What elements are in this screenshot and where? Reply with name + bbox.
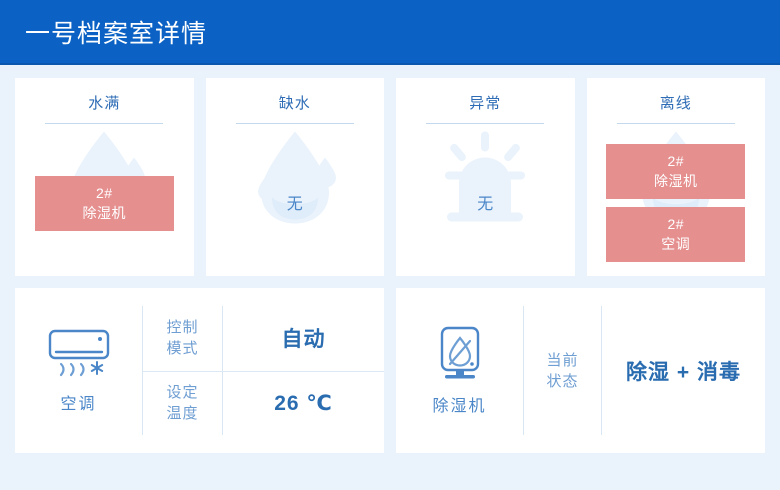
badge-device-name: 空调 xyxy=(606,234,745,254)
status-card-title: 水满 xyxy=(15,78,194,113)
status-badge[interactable]: 2# 除湿机 xyxy=(606,144,745,199)
badge-number: 2# xyxy=(606,151,745,171)
device-property-label: 设定 温度 xyxy=(143,371,223,436)
badge-number: 2# xyxy=(606,214,745,234)
page-title: 一号档案室详情 xyxy=(25,14,207,50)
status-card-title: 离线 xyxy=(587,78,766,113)
device-identity: 除湿机 xyxy=(396,306,524,435)
status-badge[interactable]: 2# 除湿机 xyxy=(35,176,174,231)
title-underline xyxy=(45,123,163,124)
badge-device-name: 除湿机 xyxy=(35,203,174,223)
device-property-row: 控制 模式 自动 xyxy=(143,306,384,371)
device-identity: 空调 xyxy=(15,306,143,435)
air-conditioner-icon xyxy=(47,328,111,380)
status-card-offline[interactable]: 离线 2# 除湿机 2# 空调 xyxy=(587,78,766,276)
device-panel-row: 空调 控制 模式 自动 设定 温度 26 ℃ xyxy=(15,288,765,453)
status-badge-list: 2# 除湿机 2# 空调 xyxy=(587,130,766,276)
device-property-value: 自动 xyxy=(223,306,384,371)
device-name: 除湿机 xyxy=(432,392,486,416)
page-content: 水满 2# 除湿机 缺水 xyxy=(0,65,780,453)
status-card-title: 异常 xyxy=(396,78,575,113)
device-property-value: 除湿 + 消毒 xyxy=(602,306,765,435)
title-underline xyxy=(236,123,354,124)
status-card-water-full[interactable]: 水满 2# 除湿机 xyxy=(15,78,194,276)
title-underline xyxy=(617,123,735,124)
title-underline xyxy=(426,123,544,124)
device-property-label: 当前 状态 xyxy=(524,306,602,435)
label-line-2: 温度 xyxy=(166,403,198,424)
device-property-label: 控制 模式 xyxy=(143,306,223,371)
device-property-row: 设定 温度 26 ℃ xyxy=(143,371,384,436)
status-card-water-shortage[interactable]: 缺水 无 xyxy=(206,78,385,276)
device-property-table: 控制 模式 自动 设定 温度 26 ℃ xyxy=(143,306,384,435)
label-line-2: 模式 xyxy=(166,338,198,359)
dehumidifier-icon xyxy=(434,326,486,382)
label-line-1: 控制 xyxy=(166,317,198,338)
status-badge[interactable]: 2# 空调 xyxy=(606,207,745,262)
device-property-value: 26 ℃ xyxy=(223,371,384,436)
alarm-siren-icon xyxy=(429,116,541,233)
status-empty-text: 无 xyxy=(206,190,385,214)
water-drop-icon xyxy=(241,114,349,235)
device-name: 空调 xyxy=(60,390,96,414)
device-panel-air-conditioner[interactable]: 空调 控制 模式 自动 设定 温度 26 ℃ xyxy=(15,288,384,453)
badge-device-name: 除湿机 xyxy=(606,171,745,191)
status-empty-text: 无 xyxy=(396,190,575,214)
status-card-row: 水满 2# 除湿机 缺水 xyxy=(15,78,765,276)
device-panel-dehumidifier[interactable]: 除湿机 当前 状态 除湿 + 消毒 xyxy=(396,288,765,453)
label-line-1: 设定 xyxy=(166,382,198,403)
device-property-table: 当前 状态 除湿 + 消毒 xyxy=(524,306,765,435)
label-line-2: 状态 xyxy=(546,371,578,392)
status-badge-list: 2# 除湿机 xyxy=(15,130,194,276)
device-property-row: 当前 状态 除湿 + 消毒 xyxy=(524,306,765,435)
label-line-1: 当前 xyxy=(546,350,578,371)
status-card-abnormal[interactable]: 异常 无 xyxy=(396,78,575,276)
status-card-title: 缺水 xyxy=(206,78,385,113)
badge-number: 2# xyxy=(35,183,174,203)
page-header: 一号档案室详情 xyxy=(0,0,780,65)
